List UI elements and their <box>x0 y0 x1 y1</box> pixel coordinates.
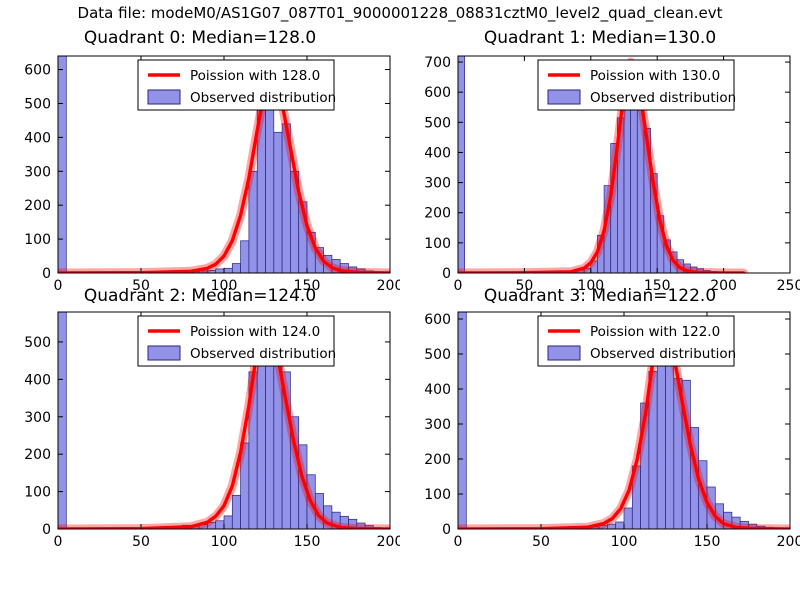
x-tick-label: 0 <box>54 534 63 550</box>
x-tick-label: 200 <box>377 534 400 550</box>
histogram-bar <box>631 83 638 273</box>
legend-label: Poission with 124.0 <box>190 324 320 340</box>
x-tick-label: 200 <box>777 534 800 550</box>
y-tick-label: 100 <box>24 232 51 248</box>
panel-quadrant-2: Quadrant 2: Median=124.0 050100150200010… <box>0 286 400 558</box>
y-tick-label: 400 <box>424 382 451 398</box>
panel-quadrant-3: Quadrant 3: Median=122.0 050100150200010… <box>400 286 800 558</box>
y-tick-label: 400 <box>24 372 51 388</box>
y-tick-label: 100 <box>424 487 451 503</box>
y-tick-label: 500 <box>424 115 451 131</box>
histogram-bar <box>58 56 66 273</box>
histogram-bar <box>616 522 624 529</box>
histogram-bar <box>224 516 232 529</box>
plot-area-quadrant-1[interactable]: 0501001502002500100200300400500600700Poi… <box>400 28 800 296</box>
histogram-bar <box>232 495 240 529</box>
y-tick-label: 0 <box>42 522 51 538</box>
y-tick-label: 600 <box>424 312 451 328</box>
y-tick-label: 500 <box>24 335 51 351</box>
y-tick-label: 300 <box>424 417 451 433</box>
histogram-bar <box>216 269 224 273</box>
x-tick-label: 50 <box>132 534 150 550</box>
y-tick-label: 0 <box>42 266 51 282</box>
legend-swatch-observed-patch <box>548 90 580 104</box>
histogram-bar <box>257 346 265 529</box>
x-tick-label: 150 <box>694 534 721 550</box>
histogram-bar <box>232 264 240 273</box>
plot-area-quadrant-3[interactable]: 0501001502000100200300400500600Poission … <box>400 286 800 558</box>
x-tick-label: 50 <box>532 534 550 550</box>
x-tick-label: 0 <box>454 534 463 550</box>
y-tick-label: 400 <box>24 130 51 146</box>
legend-label: Observed distribution <box>590 90 736 106</box>
y-tick-label: 200 <box>24 447 51 463</box>
y-tick-label: 600 <box>424 85 451 101</box>
y-tick-label: 300 <box>24 410 51 426</box>
panel-quadrant-1: Quadrant 1: Median=130.0 050100150200250… <box>400 28 800 296</box>
histogram-bar <box>58 312 66 529</box>
y-tick-label: 600 <box>24 63 51 79</box>
y-tick-label: 100 <box>24 485 51 501</box>
y-tick-label: 0 <box>442 522 451 538</box>
histogram-bar <box>657 354 665 529</box>
legend-label: Poission with 130.0 <box>590 68 720 84</box>
legend[interactable]: Poission with 130.0Observed distribution <box>538 60 736 110</box>
y-tick-label: 500 <box>424 347 451 363</box>
panel-title-quadrant-2: Quadrant 2: Median=124.0 <box>0 286 400 306</box>
y-tick-label: 200 <box>424 206 451 222</box>
y-tick-label: 300 <box>424 176 451 192</box>
histogram-bar <box>224 268 232 273</box>
legend[interactable]: Poission with 122.0Observed distribution <box>538 316 736 366</box>
panel-quadrant-0: Quadrant 0: Median=128.0 050100150200010… <box>0 28 400 296</box>
histogram-bar <box>624 508 632 529</box>
panel-title-quadrant-0: Quadrant 0: Median=128.0 <box>0 28 400 48</box>
histogram-bar <box>458 312 466 529</box>
x-tick-label: 100 <box>611 534 638 550</box>
legend-label: Observed distribution <box>590 346 736 362</box>
legend-label: Poission with 128.0 <box>190 68 320 84</box>
histogram-bar <box>216 521 224 529</box>
y-tick-label: 400 <box>424 145 451 161</box>
plot-area-quadrant-0[interactable]: 0501001502000100200300400500600Poission … <box>0 28 400 296</box>
x-tick-label: 100 <box>211 534 238 550</box>
y-tick-label: 700 <box>424 55 451 71</box>
figure-suptitle: Data file: modeM0/AS1G07_087T01_90000012… <box>0 4 800 22</box>
legend-label: Observed distribution <box>190 346 336 362</box>
legend-label: Poission with 122.0 <box>590 324 720 340</box>
legend-swatch-observed-patch <box>148 90 180 104</box>
legend-swatch-observed-patch <box>148 346 180 360</box>
legend[interactable]: Poission with 124.0Observed distribution <box>138 316 336 366</box>
y-tick-label: 200 <box>24 198 51 214</box>
panel-title-quadrant-3: Quadrant 3: Median=122.0 <box>400 286 800 306</box>
panel-title-quadrant-1: Quadrant 1: Median=130.0 <box>400 28 800 48</box>
plot-area-quadrant-2[interactable]: 0501001502000100200300400500Poission wit… <box>0 286 400 558</box>
histogram-bar <box>458 56 465 273</box>
y-tick-label: 500 <box>24 96 51 112</box>
figure-canvas: Data file: modeM0/AS1G07_087T01_90000012… <box>0 0 800 600</box>
y-tick-label: 200 <box>424 452 451 468</box>
histogram-bar <box>624 109 631 273</box>
y-tick-label: 0 <box>442 266 451 282</box>
legend[interactable]: Poission with 128.0Observed distribution <box>138 60 336 110</box>
legend-swatch-observed-patch <box>548 346 580 360</box>
legend-label: Observed distribution <box>190 90 336 106</box>
x-tick-label: 150 <box>294 534 321 550</box>
histogram-bar <box>274 132 282 273</box>
histogram-bar <box>241 241 249 273</box>
y-tick-label: 100 <box>424 236 451 252</box>
y-tick-label: 300 <box>24 164 51 180</box>
